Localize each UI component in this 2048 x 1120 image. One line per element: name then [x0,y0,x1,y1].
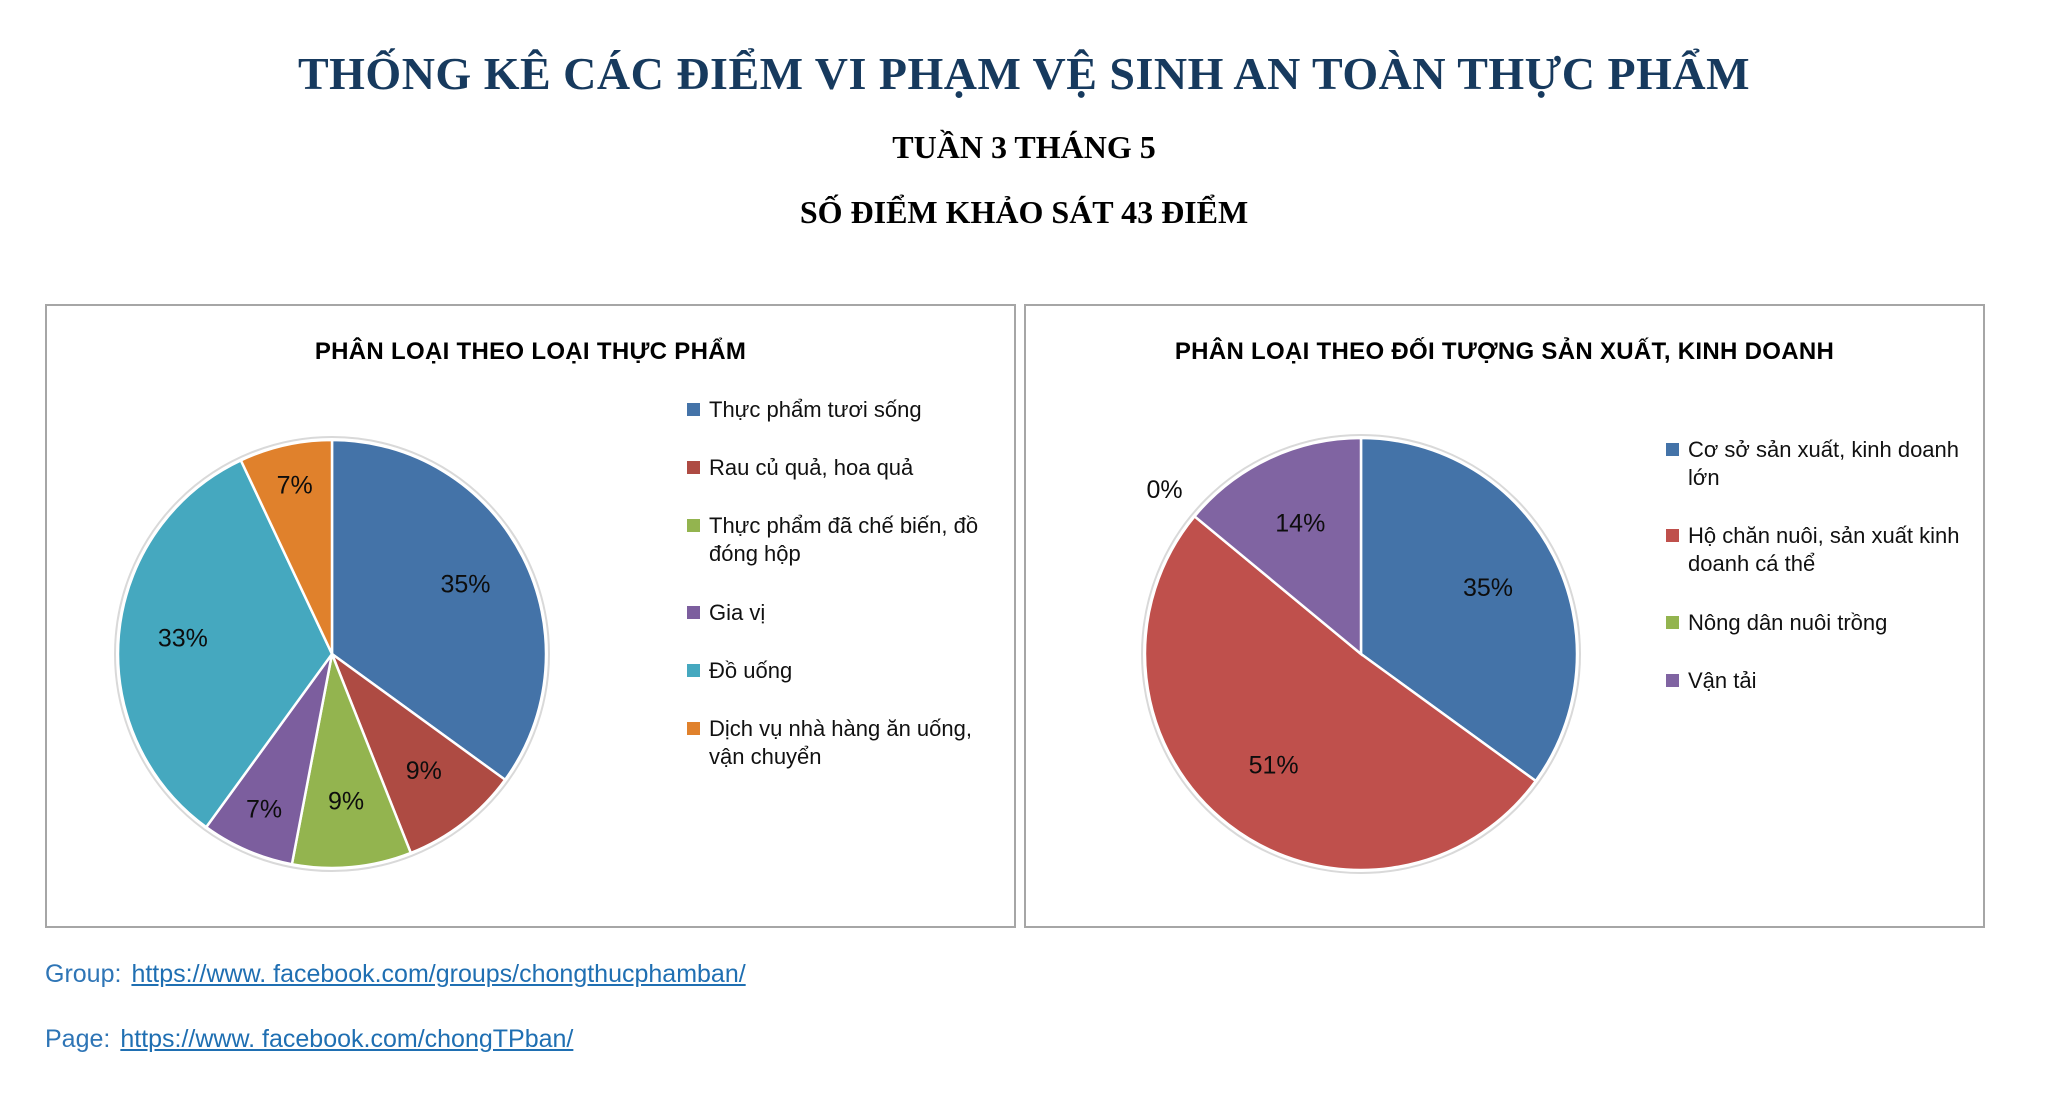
pie-slice-label: 9% [406,757,442,785]
pie-slice-label: 7% [277,472,313,500]
legend-label: Vận tải [1688,667,1971,695]
legend-label: Dịch vụ nhà hàng ăn uống, vận chuyển [709,715,997,771]
legend-swatch-icon [1666,616,1679,629]
chart-title-producer-type: PHÂN LOẠI THEO ĐỐI TƯỢNG SẢN XUẤT, KINH … [1026,338,1983,366]
pie-slice-label: 0% [1147,476,1183,504]
chart-panel-food-type: PHÂN LOẠI THEO LOẠI THỰC PHẨM 35%9%9%7%3… [45,304,1016,928]
charts-row: PHÂN LOẠI THEO LOẠI THỰC PHẨM 35%9%9%7%3… [45,304,1985,928]
pie-svg-producer-type: 35%51%0%14% [1126,411,1596,881]
page-subtitle-1: TUẦN 3 THÁNG 5 [0,101,2048,166]
legend-item[interactable]: Thực phẩm đã chế biến, đồ đóng hộp [687,512,997,568]
pie-chart-food-type: 35%9%9%7%33%7%0% [97,411,567,881]
pie-slice-label: 35% [440,571,490,599]
legend-swatch-icon [687,664,700,677]
pie-slice-label: 14% [1275,510,1325,538]
pie-svg-food-type: 35%9%9%7%33%7%0% [97,411,567,881]
legend-swatch-icon [687,461,700,474]
pie-slice-label: 35% [1463,574,1513,602]
footer-page-link[interactable]: https://www. facebook.com/chongTPban/ [120,1025,573,1053]
pie-slice-label: 33% [158,625,208,653]
legend-item[interactable]: Gia vị [687,599,997,627]
legend-label: Nông dân nuôi trồng [1688,609,1971,637]
header-block: THỐNG KÊ CÁC ĐIỂM VI PHẠM VỆ SINH AN TOÀ… [0,0,2048,231]
legend-item[interactable]: Hộ chăn nuôi, sản xuất kinh doanh cá thể [1666,522,1971,578]
footer-group-label: Group: [45,960,121,988]
footer-row-group: Group:https://www. facebook.com/groups/c… [45,960,746,989]
legend-item[interactable]: Đồ uống [687,657,997,685]
legend-swatch-icon [1666,674,1679,687]
pie-slice-label: 51% [1249,751,1299,779]
legend-item[interactable]: Vận tải [1666,667,1971,695]
pie-slice-label: 9% [328,788,364,816]
legend-swatch-icon [687,403,700,416]
legend-swatch-icon [687,606,700,619]
legend-item[interactable]: Thực phẩm tươi sống [687,396,997,424]
chart-panel-producer-type: PHÂN LOẠI THEO ĐỐI TƯỢNG SẢN XUẤT, KINH … [1024,304,1985,928]
legend-item[interactable]: Nông dân nuôi trồng [1666,609,1971,637]
legend-swatch-icon [1666,443,1679,456]
legend-item[interactable]: Dịch vụ nhà hàng ăn uống, vận chuyển [687,715,997,771]
legend-label: Hộ chăn nuôi, sản xuất kinh doanh cá thể [1688,522,1971,578]
legend-item[interactable]: Cơ sở sản xuất, kinh doanh lớn [1666,436,1971,492]
legend-swatch-icon [687,519,700,532]
footer-row-page: Page:https://www. facebook.com/chongTPba… [45,1025,746,1054]
legend-swatch-icon [687,722,700,735]
footer-group-link[interactable]: https://www. facebook.com/groups/chongth… [131,960,745,988]
footer-page-label: Page: [45,1025,110,1053]
legend-food-type: Thực phẩm tươi sống Rau củ quả, hoa quả … [687,396,997,801]
legend-label: Thực phẩm tươi sống [709,396,997,424]
legend-swatch-icon [1666,529,1679,542]
chart-title-food-type: PHÂN LOẠI THEO LOẠI THỰC PHẨM [47,338,1014,366]
legend-label: Rau củ quả, hoa quả [709,454,997,482]
legend-item[interactable]: Rau củ quả, hoa quả [687,454,997,482]
footer-links: Group:https://www. facebook.com/groups/c… [45,960,746,1090]
pie-slice-label: 7% [246,796,282,824]
legend-label: Thực phẩm đã chế biến, đồ đóng hộp [709,512,997,568]
page-title: THỐNG KÊ CÁC ĐIỂM VI PHẠM VỆ SINH AN TOÀ… [0,0,2048,101]
legend-producer-type: Cơ sở sản xuất, kinh doanh lớn Hộ chăn n… [1666,436,1971,725]
pie-chart-producer-type: 35%51%0%14% [1126,411,1596,881]
legend-label: Đồ uống [709,657,997,685]
legend-label: Gia vị [709,599,997,627]
page-subtitle-2: SỐ ĐIỂM KHẢO SÁT 43 ĐIỂM [0,166,2048,231]
legend-label: Cơ sở sản xuất, kinh doanh lớn [1688,436,1971,492]
